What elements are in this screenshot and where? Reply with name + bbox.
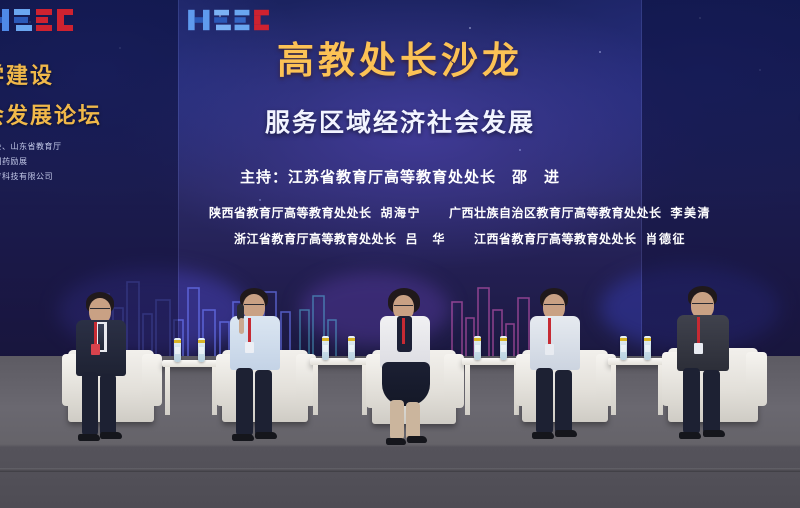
panelist-entry: 江西省教育厅高等教育处处长 肖德征 bbox=[474, 230, 686, 247]
water-bottle bbox=[198, 338, 205, 362]
panelist-4-shirt bbox=[530, 316, 580, 370]
left-banner-line1: 大学建设 bbox=[0, 58, 54, 90]
panelist-2 bbox=[218, 288, 324, 454]
panelist-5 bbox=[664, 286, 772, 454]
panelist-title: 江西省教育厅高等教育处处长 bbox=[474, 230, 637, 247]
water-bottle bbox=[474, 336, 481, 360]
event-main-title: 高教处长沙龙 bbox=[0, 30, 800, 84]
panelist-name: 吕 华 bbox=[405, 230, 446, 247]
water-bottle bbox=[500, 336, 507, 360]
event-subtitle: 服务区域经济社会发展 bbox=[0, 103, 800, 139]
side-table-2 bbox=[310, 350, 370, 418]
panelist-2-shirt bbox=[230, 316, 280, 370]
panelist-title: 广西壮族自治区教育厅高等教育处处长 bbox=[449, 204, 662, 221]
side-table-4 bbox=[608, 350, 666, 418]
stage-floor-edge bbox=[0, 468, 800, 472]
water-bottle bbox=[348, 336, 355, 360]
panelist-name: 李美清 bbox=[671, 204, 712, 221]
event-host-line: 主持：江苏省教育厅高等教育处处长 邵 进 bbox=[0, 166, 800, 187]
panelist-name: 肖德征 bbox=[646, 230, 687, 247]
side-table-3 bbox=[462, 350, 522, 418]
left-banner-small1: 教育学会、山东省教育厅 bbox=[0, 141, 62, 152]
water-bottle bbox=[644, 336, 651, 360]
panelist-entry: 浙江省教育厅高等教育处处长 吕 华 bbox=[234, 230, 446, 247]
panelist-5-shirt bbox=[677, 315, 729, 371]
panelist-entry: 广西壮族自治区教育厅高等教育处处长 李美清 bbox=[449, 204, 711, 221]
panelist-4 bbox=[518, 288, 622, 454]
panelist-3 bbox=[368, 288, 472, 456]
left-banner-line2: 社会发展论坛 bbox=[0, 98, 102, 130]
panelist-list: 陕西省教育厅高等教育处处长 胡海宁 广西壮族自治区教育厅高等教育处处长 李美清 … bbox=[150, 204, 770, 256]
water-bottle bbox=[174, 338, 181, 362]
panelist-entry: 陕西省教育厅高等教育处处长 胡海宁 bbox=[209, 204, 421, 221]
panelist-row: 陕西省教育厅高等教育处处长 胡海宁 广西壮族自治区教育厅高等教育处处长 李美清 bbox=[150, 204, 770, 221]
panelist-row: 浙江省教育厅高等教育处处长 吕 华 江西省教育厅高等教育处处长 肖德征 bbox=[150, 230, 770, 247]
panelist-1 bbox=[62, 292, 170, 452]
water-bottle bbox=[322, 336, 329, 360]
left-banner-small2: 大学、国药励展 bbox=[0, 156, 28, 167]
left-banner-small3: 属路教育科技有限公司 bbox=[0, 171, 53, 182]
panelist-name: 胡海宁 bbox=[380, 204, 421, 221]
panelist-title: 陕西省教育厅高等教育处处长 bbox=[209, 204, 372, 221]
water-bottle bbox=[620, 336, 627, 360]
side-table-1 bbox=[162, 352, 220, 418]
conference-photo: 56 中国高 56 HIGHE bbox=[0, 0, 800, 508]
panelist-title: 浙江省教育厅高等教育处处长 bbox=[234, 230, 397, 247]
